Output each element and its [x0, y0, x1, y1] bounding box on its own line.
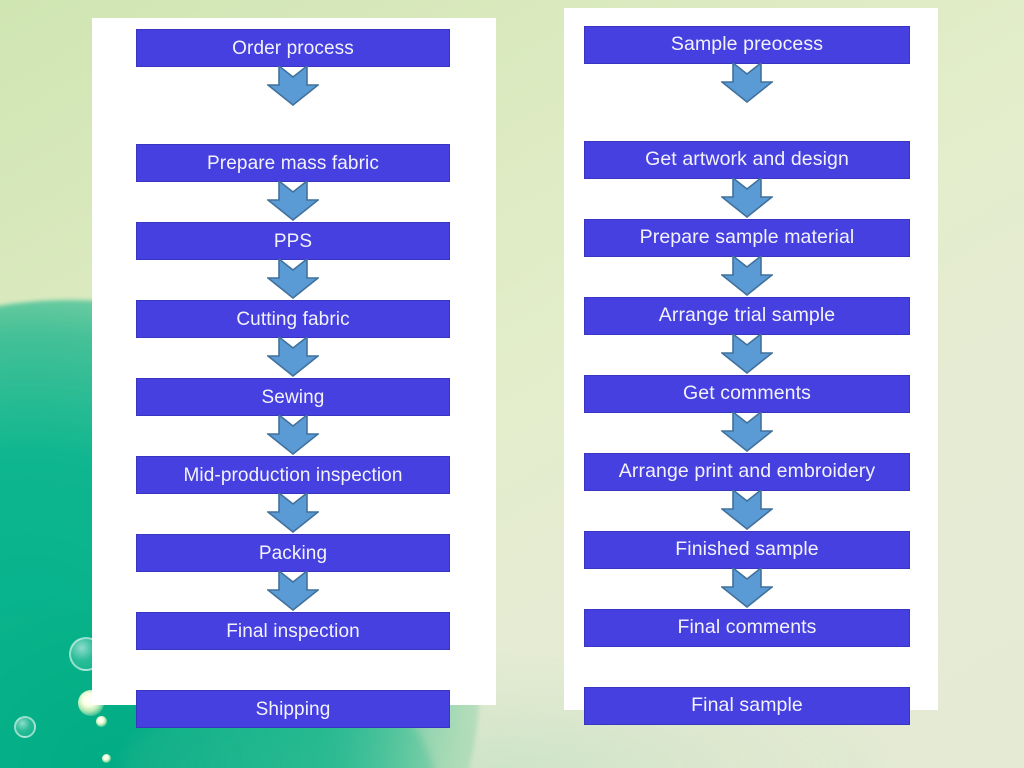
flow-node[interactable]: Final comments [584, 609, 910, 647]
flow-arrow-down-icon [267, 571, 319, 611]
flow-arrow-down-icon [267, 415, 319, 455]
flow-arrow-down-icon [721, 256, 773, 296]
flow-node[interactable]: Arrange print and embroidery [584, 453, 910, 491]
flow-arrow-down-icon [721, 568, 773, 608]
slide-canvas: Order processPrepare mass fabricPPSCutti… [0, 0, 1024, 768]
flow-node[interactable]: Mid-production inspection [136, 456, 450, 494]
flow-node[interactable]: Get comments [584, 375, 910, 413]
flow-arrow-down-icon [721, 63, 773, 103]
flow-node[interactable]: Sample preocess [584, 26, 910, 64]
sample-process-panel: Sample preocessGet artwork and designPre… [564, 8, 938, 710]
flow-node[interactable]: Sewing [136, 378, 450, 416]
order-process-flow: Order processPrepare mass fabricPPSCutti… [92, 18, 496, 705]
flow-node[interactable]: Shipping [136, 690, 450, 728]
flow-node[interactable]: Finished sample [584, 531, 910, 569]
flow-arrow-down-icon [721, 490, 773, 530]
flow-node[interactable]: Final inspection [136, 612, 450, 650]
flow-node[interactable]: Packing [136, 534, 450, 572]
flow-arrow-down-icon [267, 181, 319, 221]
sample-process-flow: Sample preocessGet artwork and designPre… [564, 8, 938, 710]
flow-arrow-down-icon [721, 334, 773, 374]
flow-node[interactable]: Final sample [584, 687, 910, 725]
flow-node[interactable]: Cutting fabric [136, 300, 450, 338]
flow-node[interactable]: Arrange trial sample [584, 297, 910, 335]
flow-node[interactable]: Get artwork and design [584, 141, 910, 179]
flow-arrow-down-icon [721, 178, 773, 218]
flow-arrow-down-icon [721, 412, 773, 452]
flow-node[interactable]: Prepare mass fabric [136, 144, 450, 182]
flow-node[interactable]: PPS [136, 222, 450, 260]
order-process-panel: Order processPrepare mass fabricPPSCutti… [92, 18, 496, 705]
flow-arrow-down-icon [267, 66, 319, 106]
flow-arrow-down-icon [267, 337, 319, 377]
flow-node[interactable]: Prepare sample material [584, 219, 910, 257]
flow-arrow-down-icon [267, 493, 319, 533]
flow-node[interactable]: Order process [136, 29, 450, 67]
flow-arrow-down-icon [267, 259, 319, 299]
